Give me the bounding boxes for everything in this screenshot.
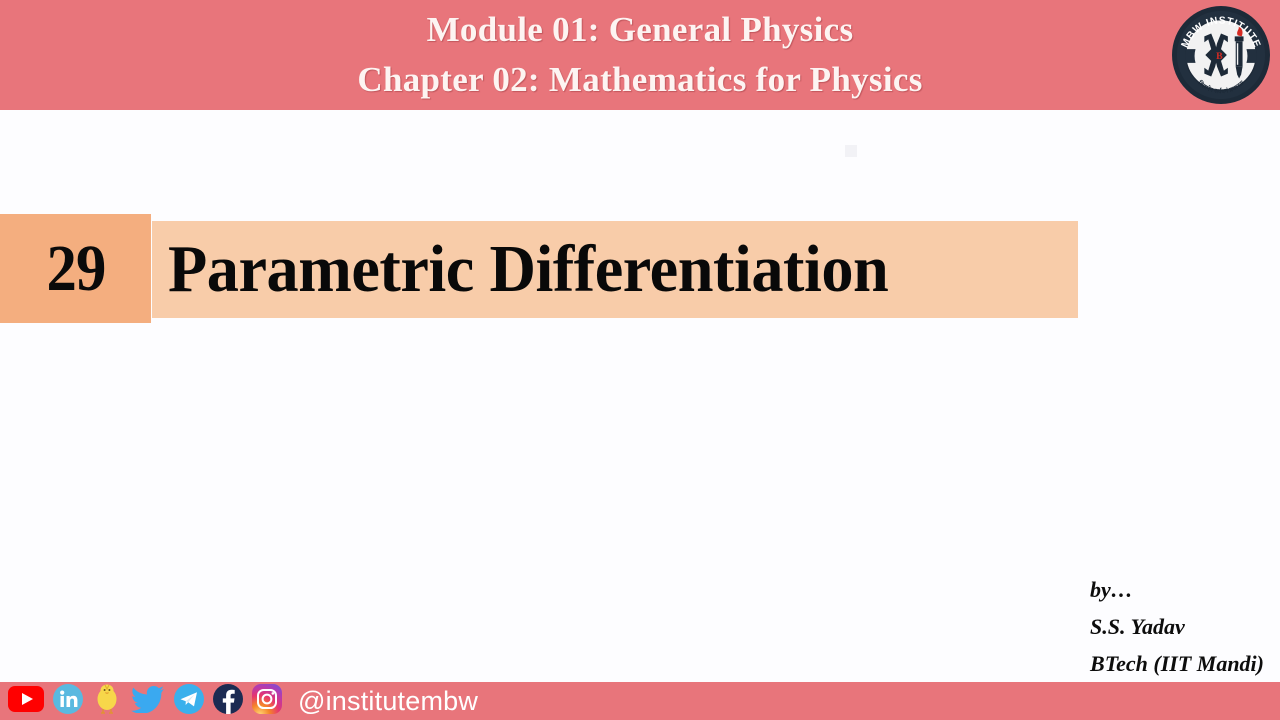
author-credits: by… S.S. Yadav BTech (IIT Mandi)	[1090, 572, 1264, 683]
twitter-icon[interactable]	[131, 685, 165, 718]
slide-number-badge: 29	[0, 214, 151, 323]
header-module-line: Module 01: General Physics	[427, 5, 854, 55]
mbw-institute-logo: MBW INSTITUTE विज्ञानेन सर्वधनं प्रधानतः…	[1172, 6, 1270, 104]
background-artifact	[845, 145, 857, 157]
slide-number: 29	[46, 231, 105, 307]
social-icon-group	[8, 683, 282, 720]
youtube-icon[interactable]	[8, 686, 44, 717]
svg-text:B: B	[1216, 51, 1223, 62]
author-by-label: by…	[1090, 572, 1264, 609]
telegram-icon[interactable]	[174, 684, 204, 719]
slide-header: Module 01: General Physics Chapter 02: M…	[0, 0, 1280, 110]
facebook-icon[interactable]	[213, 684, 243, 719]
social-handle: @institutembw	[298, 686, 478, 717]
social-footer: @institutembw	[0, 682, 1280, 720]
slide-title: Parametric Differentiation	[168, 231, 888, 308]
koo-icon[interactable]	[92, 683, 122, 720]
slide-canvas: Module 01: General Physics Chapter 02: M…	[0, 0, 1280, 720]
slide-title-banner: Parametric Differentiation	[152, 221, 1078, 318]
header-chapter-line: Chapter 02: Mathematics for Physics	[357, 55, 922, 105]
author-credential: BTech (IIT Mandi)	[1090, 646, 1264, 683]
instagram-icon[interactable]	[252, 684, 282, 719]
author-name: S.S. Yadav	[1090, 609, 1264, 646]
linkedin-icon[interactable]	[53, 684, 83, 719]
